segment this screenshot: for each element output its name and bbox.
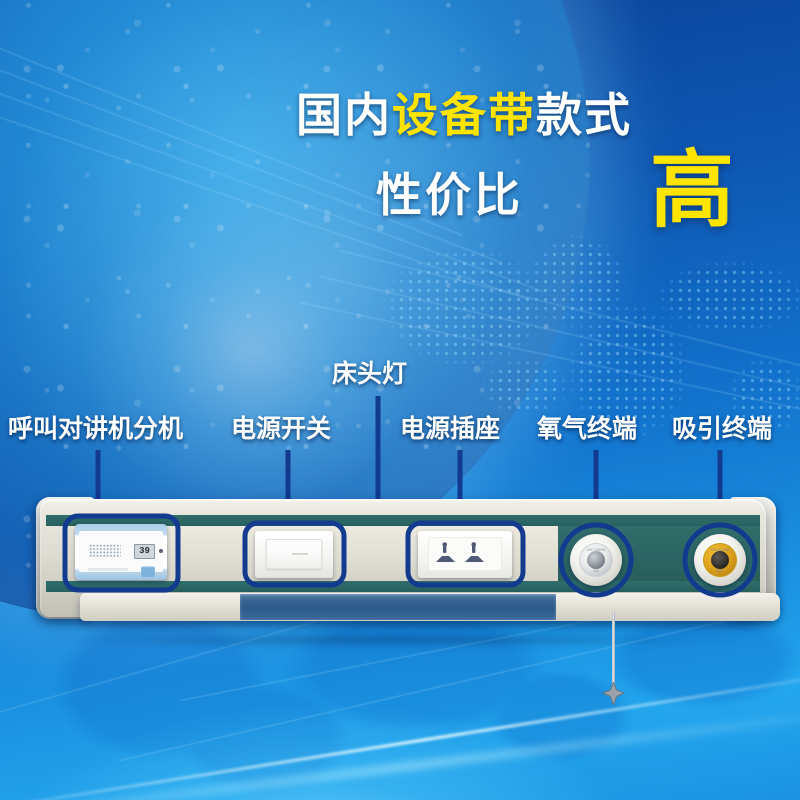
headline-part-3: 款式 <box>536 89 632 141</box>
pull-cord-handle-icon[interactable] <box>600 682 627 706</box>
panel-drop-shadow <box>40 632 750 648</box>
intercom-display: 39 <box>134 544 155 559</box>
halftone-dot-map <box>370 232 800 482</box>
intercom-call-button[interactable] <box>141 566 155 577</box>
callout-label-suction: 吸引终端 <box>672 417 772 442</box>
indicator-led-icon <box>159 549 163 553</box>
callout-label-nurse-call: 呼叫对讲机分机 <box>8 417 183 442</box>
callout-label-power-switch: 电源开关 <box>231 417 331 442</box>
suction-terminal-port[interactable] <box>711 551 729 569</box>
nurse-call-intercom[interactable]: 39 <box>75 524 167 580</box>
headline-line-1: 国内设备带款式 <box>296 92 632 138</box>
headline-block: 国内设备带款式 性价比 高 <box>0 0 800 250</box>
socket-face <box>428 537 502 571</box>
switch-rocker[interactable] <box>266 539 322 569</box>
headline-emphasis-word: 高 <box>650 148 734 232</box>
pull-cord[interactable] <box>612 612 615 690</box>
speaker-grille-icon <box>89 544 121 557</box>
power-socket[interactable] <box>418 531 512 578</box>
switch-mark-icon <box>292 553 308 555</box>
oxygen-terminal-port[interactable] <box>587 551 605 569</box>
callout-label-bed-lamp: 床头灯 <box>332 362 407 387</box>
socket-pin-holes-icon <box>428 537 502 571</box>
oxygen-terminal[interactable]: OXYGEN O2 <box>570 534 622 586</box>
promo-banner: 国内设备带款式 性价比 高 呼叫对讲机分机 电源开关 床头灯 电源插座 氧气终端… <box>0 0 800 800</box>
headline-part-2-highlight: 设备带 <box>392 89 536 141</box>
headline-line-2: 性价比 <box>376 172 523 218</box>
panel-stripe-bottom <box>46 581 760 592</box>
suction-terminal[interactable]: VACUUM SUC <box>694 534 746 586</box>
power-switch[interactable] <box>255 531 333 578</box>
intercom-slot <box>88 568 128 571</box>
callout-label-power-socket: 电源插座 <box>400 417 500 442</box>
bed-lamp-lens[interactable] <box>240 594 556 620</box>
headline-part-1: 国内 <box>296 89 392 141</box>
intercom-face: 39 <box>79 531 163 572</box>
callout-label-oxygen: 氧气终端 <box>537 417 637 442</box>
